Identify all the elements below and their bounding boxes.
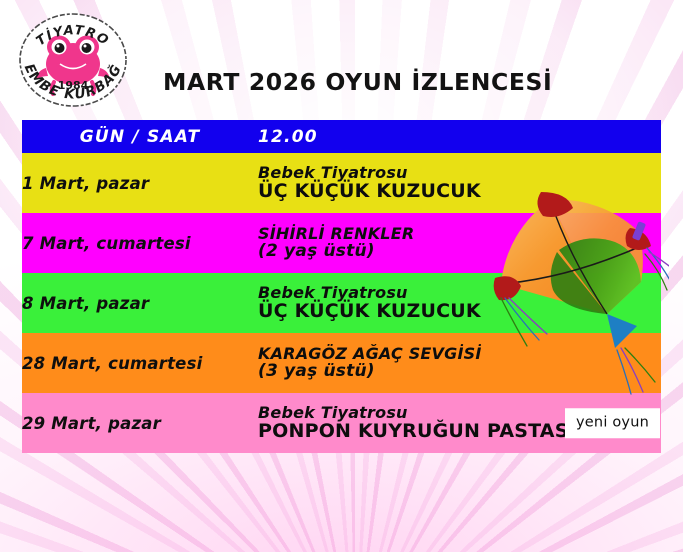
row-day: 28 Mart, cumartesi	[22, 333, 258, 393]
header-day-label: GÜN / SAAT	[22, 120, 258, 153]
poster-canvas: TİYATRO PEMBE KURBAĞA 1984 MART 2026 OYU…	[0, 0, 683, 552]
row-day: 7 Mart, cumartesi	[22, 213, 258, 273]
header-time-label: 12.00	[258, 120, 661, 153]
play-age-note: (2 yaş üstü)	[258, 242, 661, 260]
play-subtitle: Bebek Tiyatrosu	[258, 164, 661, 181]
play-subtitle: KARAGÖZ AĞAÇ SEVGİSİ	[258, 345, 661, 362]
logo-svg: TİYATRO PEMBE KURBAĞA 1984	[12, 6, 134, 114]
table-row[interactable]: 1 Mart, pazar Bebek Tiyatrosu ÜÇ KÜÇÜK K…	[22, 153, 661, 213]
schedule-table: GÜN / SAAT 12.00 1 Mart, pazar Bebek Tiy…	[22, 120, 661, 453]
row-play: Bebek Tiyatrosu ÜÇ KÜÇÜK KUZUCUK	[258, 273, 661, 333]
theatre-logo: TİYATRO PEMBE KURBAĞA 1984	[12, 6, 134, 114]
play-subtitle: Bebek Tiyatrosu	[258, 284, 661, 301]
play-title: ÜÇ KÜÇÜK KUZUCUK	[258, 181, 661, 202]
logo-year-text: 1984	[58, 79, 89, 92]
table-header-row: GÜN / SAAT 12.00	[22, 120, 661, 153]
table-row[interactable]: 8 Mart, pazar Bebek Tiyatrosu ÜÇ KÜÇÜK K…	[22, 273, 661, 333]
page-title: MART 2026 OYUN İZLENCESİ	[163, 68, 552, 96]
play-subtitle: SİHİRLİ RENKLER	[258, 225, 661, 242]
table-row[interactable]: 7 Mart, cumartesi SİHİRLİ RENKLER (2 yaş…	[22, 213, 661, 273]
row-play: Bebek Tiyatrosu PONPON KUYRUĞUN PASTASI …	[258, 393, 661, 453]
row-day: 1 Mart, pazar	[22, 153, 258, 213]
row-play: Bebek Tiyatrosu ÜÇ KÜÇÜK KUZUCUK	[258, 153, 661, 213]
status-badge: yeni oyun	[565, 408, 660, 438]
table-row[interactable]: 28 Mart, cumartesi KARAGÖZ AĞAÇ SEVGİSİ …	[22, 333, 661, 393]
table-row[interactable]: 29 Mart, pazar Bebek Tiyatrosu PONPON KU…	[22, 393, 661, 453]
row-day: 8 Mart, pazar	[22, 273, 258, 333]
row-play: KARAGÖZ AĞAÇ SEVGİSİ (3 yaş üstü)	[258, 333, 661, 393]
play-title: ÜÇ KÜÇÜK KUZUCUK	[258, 301, 661, 322]
play-age-note: (3 yaş üstü)	[258, 362, 661, 380]
row-day: 29 Mart, pazar	[22, 393, 258, 453]
row-play: SİHİRLİ RENKLER (2 yaş üstü)	[258, 213, 661, 273]
